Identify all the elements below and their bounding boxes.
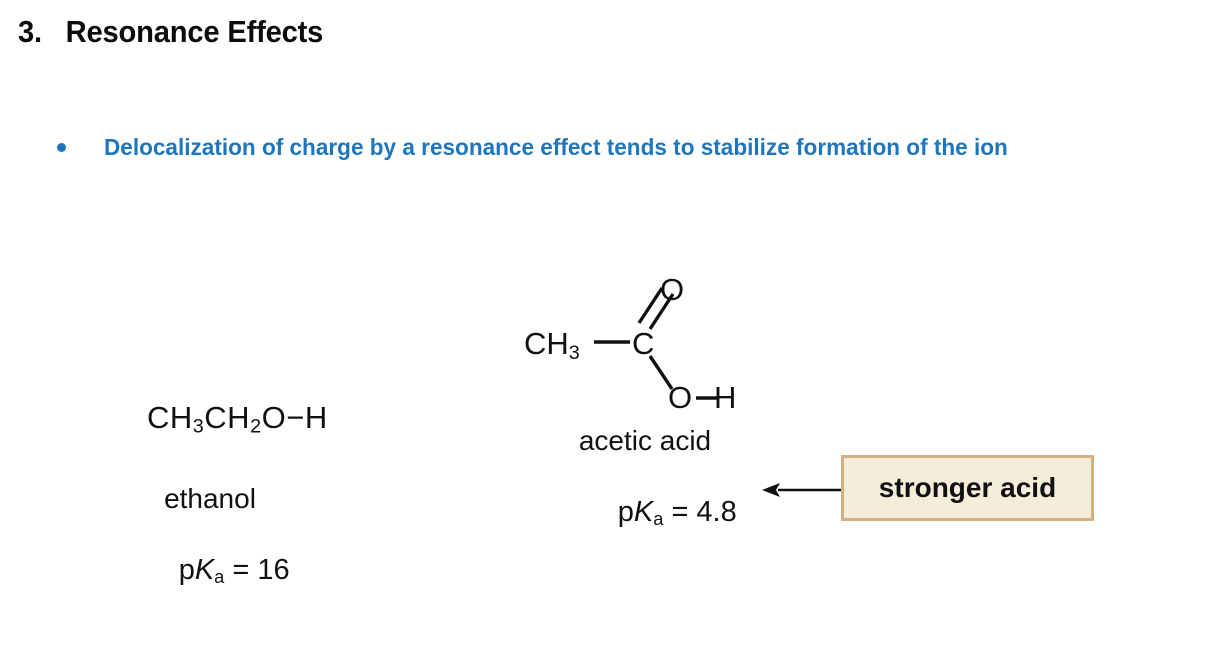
- ethanol-pka-subscript: a: [214, 566, 224, 587]
- page-title: 3. Resonance Effects: [18, 14, 323, 50]
- acetic-methyl-subscript: 3: [569, 342, 580, 364]
- ethanol-formula: CH3CH2O−H: [60, 364, 360, 474]
- acetic-pka-prefix: p: [618, 496, 634, 528]
- ethanol-bond-dash: −: [286, 400, 305, 435]
- slide-canvas: 3. Resonance Effects Delocalization of c…: [0, 0, 1220, 650]
- acetic-hydroxyl-hydrogen-label: H: [714, 382, 736, 413]
- ethanol-pka-prefix: p: [179, 554, 195, 586]
- stronger-acid-callout: stronger acid: [841, 455, 1094, 521]
- callout-arrow: [762, 481, 848, 499]
- ethanol-name-label: ethanol: [60, 483, 360, 515]
- ethanol-methylene-label: CH: [204, 400, 250, 435]
- ethanol-methylene-subscript: 2: [250, 415, 262, 437]
- bullet-dot-icon: [57, 143, 66, 152]
- ethanol-pka-value: = 16: [232, 554, 289, 586]
- ethanol-oxygen-label: O: [262, 400, 287, 435]
- acetic-acid-captions: acetic acid pKa = 4.8: [500, 425, 790, 563]
- acetic-pka-value: = 4.8: [671, 496, 736, 528]
- bullet-item-label: Delocalization of charge by a resonance …: [104, 131, 1150, 163]
- molecule-acetic-acid: CH3 C O O H acetic acid pKa = 4.8: [500, 268, 790, 563]
- stronger-acid-label: stronger acid: [879, 472, 1056, 504]
- acetic-pka-k: K: [634, 496, 653, 528]
- ethanol-pka-k: K: [195, 554, 214, 586]
- acetic-acid-pka-label: pKa = 4.8: [500, 463, 790, 563]
- acetic-carbonyl-carbon-label: C: [632, 328, 654, 359]
- acetic-methyl-text: CH: [524, 326, 569, 361]
- acetic-hydroxyl-oxygen-label: O: [668, 382, 692, 413]
- molecule-ethanol: CH3CH2O−H ethanol pKa = 16: [60, 364, 360, 621]
- acetic-pka-subscript: a: [653, 508, 663, 529]
- ethanol-pka-label: pKa = 16: [60, 521, 360, 621]
- acetic-acid-structure: CH3 C O O H: [500, 268, 790, 416]
- ethanol-methyl-label: CH: [147, 400, 193, 435]
- acetic-methyl-label: CH3: [524, 328, 580, 364]
- ethanol-methyl-subscript: 3: [193, 415, 205, 437]
- acetic-carbonyl-oxygen-label: O: [660, 274, 684, 305]
- arrow-left-icon: [762, 481, 848, 499]
- ethanol-hydrogen-label: H: [305, 400, 328, 435]
- acetic-acid-name-label: acetic acid: [500, 425, 790, 457]
